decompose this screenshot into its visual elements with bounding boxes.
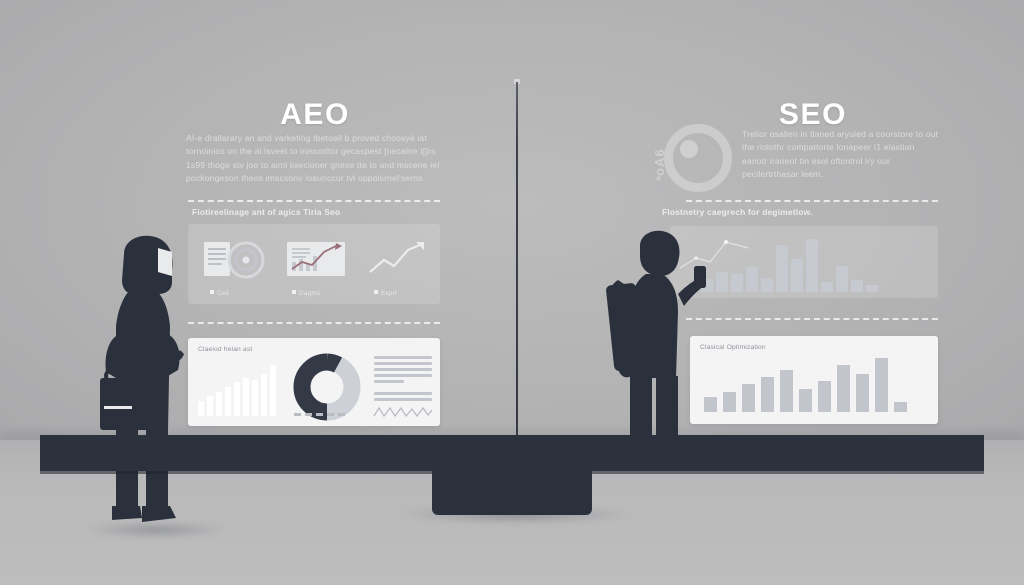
seo-optimization-bar-chart xyxy=(704,352,907,412)
seo-title: SEO xyxy=(684,98,942,132)
aeo-dashboard-card: Claeiod helan ast xyxy=(188,338,440,426)
seo-section-label: Flostnetry caegrech for degimetlow. xyxy=(662,207,813,217)
aeo-title: AEO xyxy=(186,98,444,132)
aeo-section-label: Fiotireelinage ant of agics Tiria Seo xyxy=(192,207,340,217)
bullet-icon xyxy=(374,290,378,294)
aeo-donut-legend xyxy=(292,412,362,418)
seo-divider-top xyxy=(686,200,938,202)
aeo-divider-bottom xyxy=(188,322,440,324)
center-divider xyxy=(516,82,518,440)
seo-body-text: Trelior osallen in tlaned aryuied a coor… xyxy=(742,128,942,182)
aeo-tile-text-1: Ceii xyxy=(217,290,229,297)
aeo-divider-top xyxy=(188,200,440,202)
aeo-tile-label-3: Exprt xyxy=(374,290,397,297)
bullet-icon xyxy=(292,290,296,294)
aeo-tile-text-3: Exprt xyxy=(381,290,397,297)
infographic-scene: AEO AI-e drallarary an and varketing tbe… xyxy=(0,0,1024,585)
aeo-sparkline xyxy=(374,404,432,420)
left-figure-silhouette xyxy=(72,230,212,530)
aeo-tile-label-1: Ceii xyxy=(210,290,229,297)
seo-optimization-card: Clasical Optimization xyxy=(690,336,938,424)
platform-beam xyxy=(40,435,984,471)
aeo-tile-label-2: Dagms xyxy=(292,290,320,297)
report-chart-icon xyxy=(284,238,350,282)
aeo-icon-card: Ceii Dagms Exprt xyxy=(188,224,440,304)
trend-arrow-icon xyxy=(366,238,432,282)
aeo-body-text: AI-e drallarary an and varketing tbetoel… xyxy=(186,132,444,186)
aeo-tile-text-2: Dagms xyxy=(299,290,320,297)
right-figure-silhouette xyxy=(596,228,726,463)
seo-watermark-text: oA6 xyxy=(652,148,667,176)
center-pedestal xyxy=(432,470,592,515)
